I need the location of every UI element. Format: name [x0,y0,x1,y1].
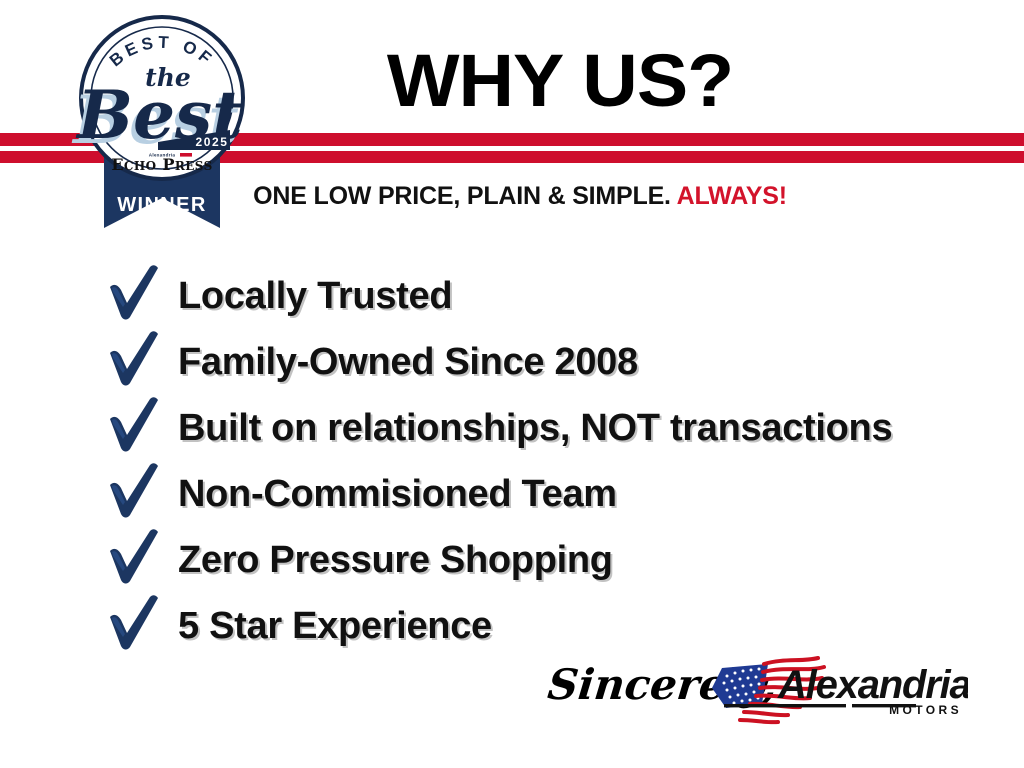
logo-tagline: MOTORS [889,703,962,717]
list-item-label: Non-Commisioned Team [178,474,617,514]
check-icon [104,597,166,655]
list-item-label: Locally Trusted [178,276,452,316]
badge-winner-text: WINNER [117,194,207,216]
check-icon [104,531,166,589]
list-item: Family-Owned Since 2008 [104,329,1004,395]
benefits-checklist: Locally Trusted Family-Owned Since 2008 … [104,263,1004,659]
check-icon [104,399,166,457]
best-of-the-best-badge: BEST OF Best Best the 2025 Alexandria EC… [62,10,262,235]
list-item-label: Family-Owned Since 2008 [178,342,638,382]
logo-rule [724,704,846,707]
check-icon [104,333,166,391]
alexandria-motors-logo: Alexandria MOTORS [706,654,968,730]
check-icon [104,267,166,325]
list-item: Built on relationships, NOT transactions [104,395,1004,461]
logo-wordmark: Alexandria [777,663,968,707]
subtitle: ONE LOW PRICE, PLAIN & SIMPLE. ALWAYS! [200,182,840,210]
check-icon [104,465,166,523]
list-item: Non-Commisioned Team [104,461,1004,527]
list-item: 5 Star Experience [104,593,1004,659]
badge-script-the: the [145,63,191,92]
list-item-label: 5 Star Experience [178,606,492,646]
list-item: Zero Pressure Shopping [104,527,1004,593]
list-item-label: Zero Pressure Shopping [178,540,613,580]
subtitle-main: ONE LOW PRICE, PLAIN & SIMPLE. [253,182,676,210]
list-item-label: Built on relationships, NOT transactions [178,408,892,448]
svg-text:2025: 2025 [195,135,228,149]
page-title: WHY US? [269,42,851,120]
subtitle-accent: ALWAYS! [677,182,787,210]
list-item: Locally Trusted [104,263,1004,329]
